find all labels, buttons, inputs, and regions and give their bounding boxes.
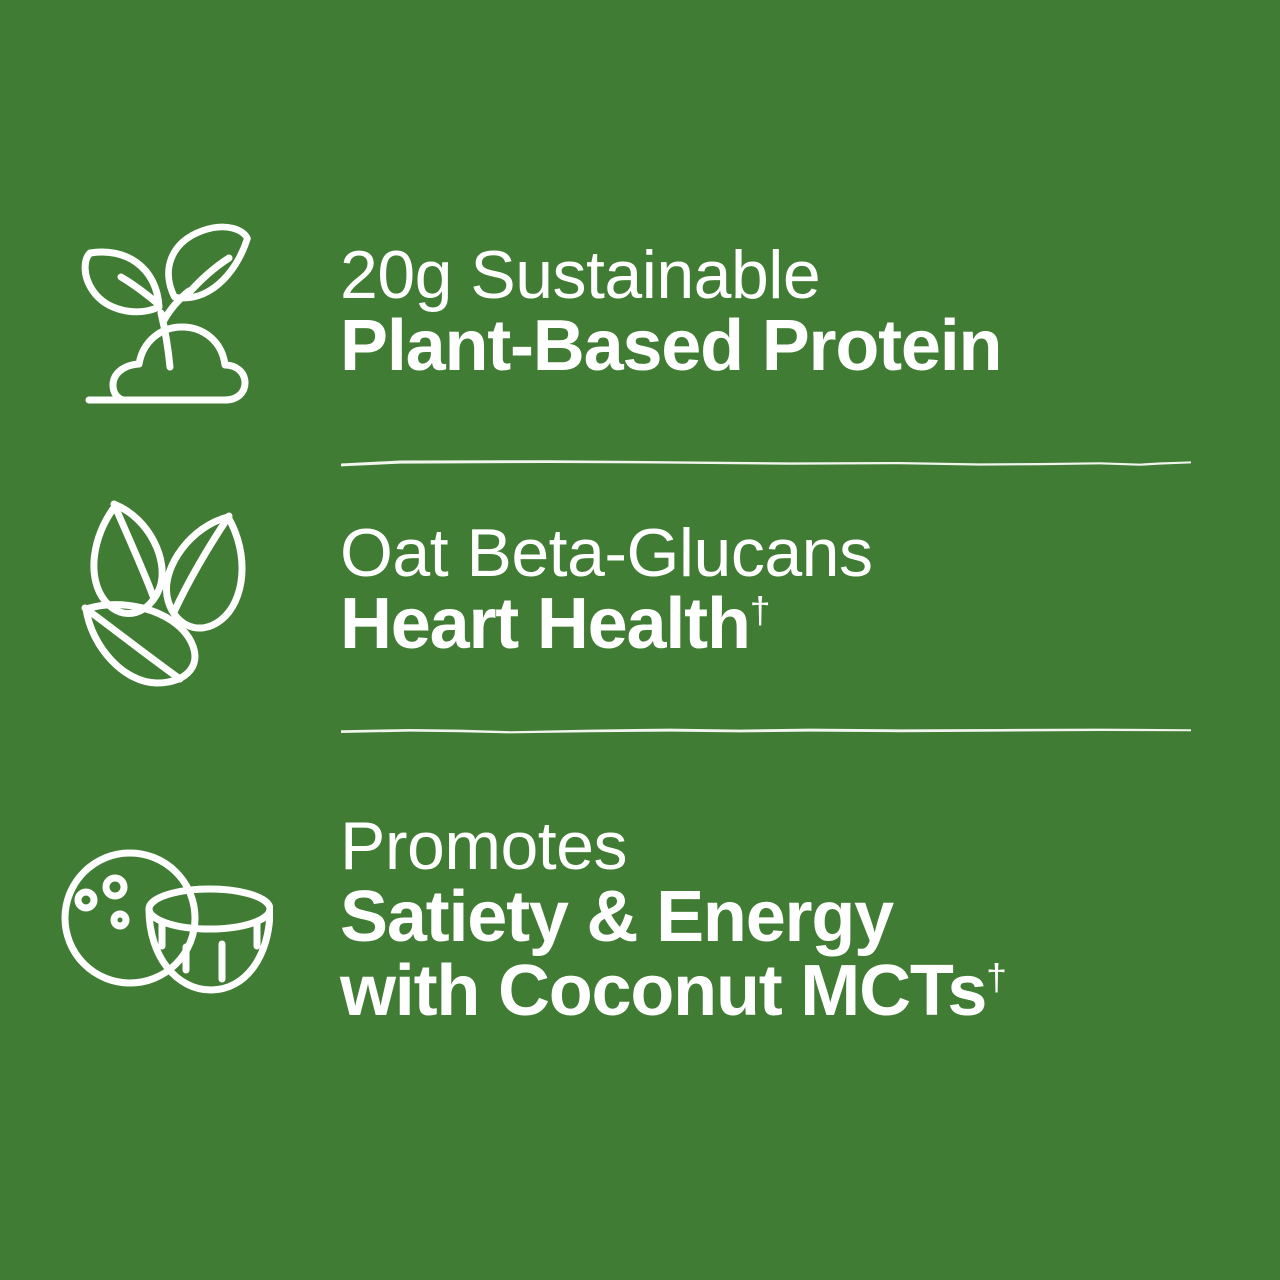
benefit-line-bold: Satiety & Energy <box>340 881 1280 954</box>
oat-grains-icon-cell <box>0 493 330 688</box>
footnote-dagger: † <box>986 956 1007 998</box>
benefit-line-light: 20g Sustainable <box>340 241 1280 310</box>
oat-grains-icon <box>73 493 258 688</box>
benefit-line-bold: Heart Health† <box>340 588 1280 661</box>
benefit-text-plant-based-protein: 20g Sustainable Plant-Based Protein <box>330 241 1280 384</box>
sprout-icon <box>75 217 255 407</box>
benefit-line-light: Promotes <box>340 812 1280 881</box>
benefit-line-bold: Plant-Based Protein <box>340 310 1280 383</box>
benefit-row-satiety-energy: Promotes Satiety & Energy with Coconut M… <box>0 770 1280 1070</box>
divider-1 <box>340 454 1192 470</box>
sprout-icon-cell <box>0 217 330 407</box>
coconut-icon <box>58 843 273 998</box>
benefit-text-satiety-energy: Promotes Satiety & Energy with Coconut M… <box>330 812 1280 1028</box>
benefit-text-heart-health: Oat Beta-Glucans Heart Health† <box>330 519 1280 662</box>
benefit-line-bold-text: Heart Health <box>340 584 750 664</box>
benefit-row-heart-health: Oat Beta-Glucans Heart Health† <box>0 490 1280 690</box>
footnote-dagger: † <box>750 589 771 631</box>
benefit-row-plant-based-protein: 20g Sustainable Plant-Based Protein <box>0 212 1280 412</box>
benefit-line-bold-2: with Coconut MCTs† <box>340 955 1280 1028</box>
coconut-icon-cell <box>0 843 330 998</box>
benefit-line-bold-2-text: with Coconut MCTs <box>340 951 986 1031</box>
benefit-line-bold-text: Plant-Based Protein <box>340 306 1001 386</box>
benefit-line-light: Oat Beta-Glucans <box>340 519 1280 588</box>
divider-2 <box>340 722 1192 738</box>
benefits-panel: 20g Sustainable Plant-Based Protein <box>0 0 1280 1280</box>
